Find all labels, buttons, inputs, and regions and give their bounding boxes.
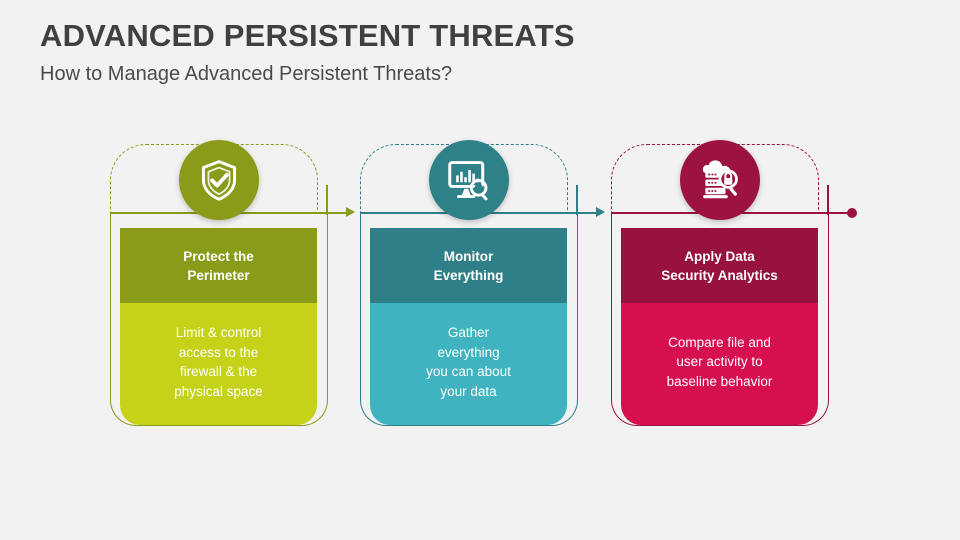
shield-check-icon bbox=[197, 158, 241, 202]
step-heading: Monitor Everything bbox=[370, 228, 567, 303]
step-heading: Protect the Perimeter bbox=[120, 228, 317, 303]
step-icon-circle[interactable] bbox=[179, 140, 259, 220]
process-diagram: Protect the Perimeter Limit & control ac… bbox=[0, 0, 960, 540]
frame-riser bbox=[827, 185, 829, 215]
step-card-apply-data-security-analytics[interactable]: Apply Data Security Analytics Compare fi… bbox=[601, 140, 861, 440]
frame-riser bbox=[576, 185, 578, 215]
step-card[interactable]: Apply Data Security Analytics Compare fi… bbox=[621, 228, 818, 425]
step-icon-circle[interactable] bbox=[429, 140, 509, 220]
step-heading: Apply Data Security Analytics bbox=[621, 228, 818, 303]
server-cloud-lock-icon bbox=[696, 158, 744, 202]
step-icon-circle[interactable] bbox=[680, 140, 760, 220]
step-body-text: Compare file and user activity to baseli… bbox=[621, 303, 818, 425]
frame-riser bbox=[326, 185, 328, 215]
step-card[interactable]: Monitor Everything Gather everything you… bbox=[370, 228, 567, 425]
step-body-text: Gather everything you can about your dat… bbox=[370, 303, 567, 425]
step-card[interactable]: Protect the Perimeter Limit & control ac… bbox=[120, 228, 317, 425]
step-card-monitor-everything[interactable]: Monitor Everything Gather everything you… bbox=[350, 140, 610, 440]
connector-end-dot bbox=[847, 208, 857, 218]
step-card-protect-the-perimeter[interactable]: Protect the Perimeter Limit & control ac… bbox=[100, 140, 360, 440]
step-body-text: Limit & control access to the firewall &… bbox=[120, 303, 317, 425]
monitor-analytics-icon bbox=[446, 158, 492, 202]
